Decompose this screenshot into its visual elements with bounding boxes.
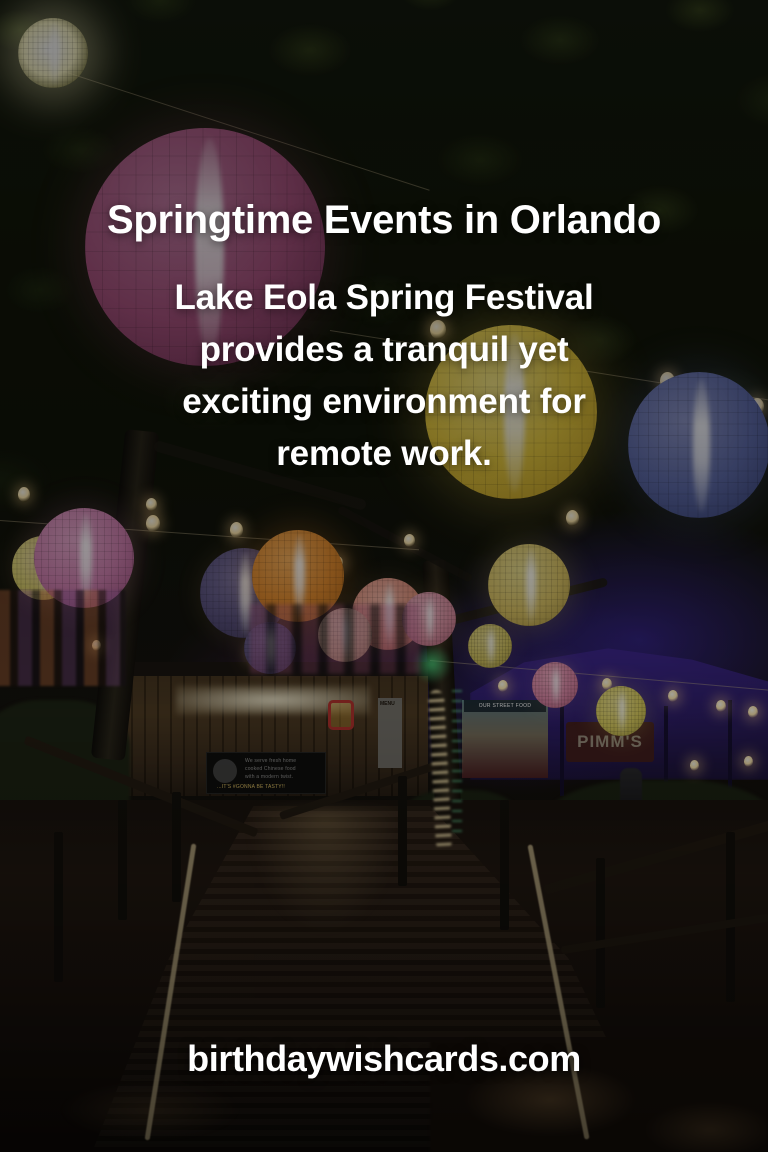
text-overlay: Springtime Events in Orlando Lake Eola S…: [0, 0, 768, 1152]
body-line: exciting environment for: [84, 376, 684, 428]
page-title: Springtime Events in Orlando: [0, 198, 768, 243]
body-text: Lake Eola Spring Festival provides a tra…: [84, 272, 684, 480]
body-line: Lake Eola Spring Festival: [84, 272, 684, 324]
body-line: provides a tranquil yet: [84, 324, 684, 376]
pinterest-pin-image: We serve fresh home cooked Chinese food …: [0, 0, 768, 1152]
body-line: remote work.: [84, 428, 684, 480]
site-watermark: birthdaywishcards.com: [0, 1038, 768, 1080]
